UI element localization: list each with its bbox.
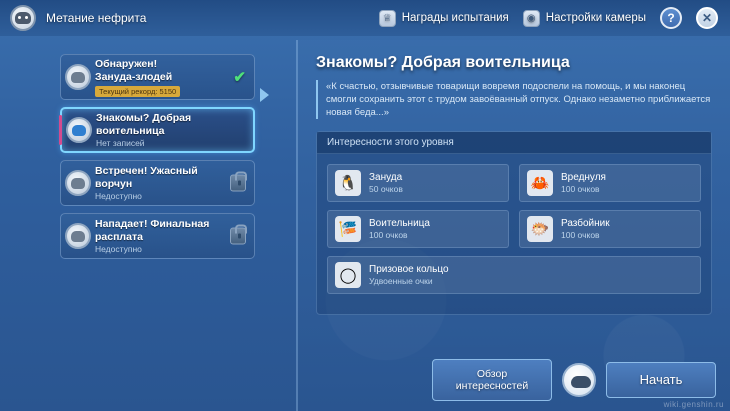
objective-ring-points: Удвоенные очки (369, 276, 449, 287)
objective-ring-name: Призовое кольцо (369, 263, 449, 276)
objective-voitelnitsa: 🎏 Воительница 100 очков (327, 210, 509, 248)
level-item-4-text: Нападает! Финальная расплата Недоступно (95, 218, 209, 254)
level-item-4-name2: расплата (95, 231, 209, 243)
camera-settings-button[interactable]: ◉ Настройки камеры (523, 10, 646, 27)
level-item-2-name2: воительница (96, 125, 191, 137)
challenge-rewards-label: Награды испытания (402, 12, 509, 24)
objective-zanuda-points: 50 очков (369, 184, 403, 195)
objective-ring: ◯ Призовое кольцо Удвоенные очки (327, 256, 701, 294)
level-item-2-text: Знакомы? Добрая воительница Нет записей (96, 112, 191, 148)
level-medal-icon (65, 64, 91, 90)
level-item-3-text: Встречен! Ужасный ворчун Недоступно (95, 165, 198, 201)
lock-icon (230, 228, 246, 245)
objective-vrednulya-points: 100 очков (561, 184, 606, 195)
objective-vrednulya-name: Вреднуля (561, 171, 606, 184)
level-item-1-name2: Зануда-злодей (95, 71, 180, 83)
watermark: wiki.genshin.ru (664, 400, 724, 409)
level-item-1[interactable]: Обнаружен! Зануда-злодей Текущий рекорд:… (60, 54, 255, 100)
level-detail-panel: Знакомы? Добрая воительница «К счастью, … (296, 40, 730, 411)
ring-icon: ◯ (335, 262, 361, 288)
camera-icon: ◉ (523, 10, 540, 27)
objective-zanuda: 🐧 Зануда 50 очков (327, 164, 509, 202)
level-item-3-name: Встречен! Ужасный (95, 165, 198, 177)
level-list: Обнаружен! Зануда-злодей Текущий рекорд:… (60, 54, 255, 259)
top-bar-actions: ♕ Награды испытания ◉ Настройки камеры ?… (379, 7, 730, 29)
help-button[interactable]: ? (660, 7, 682, 29)
level-item-1-text: Обнаружен! Зануда-злодей Текущий рекорд:… (95, 58, 180, 97)
objective-voitelnitsa-name: Воительница (369, 217, 430, 230)
objectives-section-title: Интересности этого уровня (317, 132, 711, 154)
overview-button-line2: интересностей (447, 380, 537, 392)
vrednulya-icon: 🦀 (527, 170, 553, 196)
objective-voitelnitsa-points: 100 очков (369, 230, 430, 241)
selection-arrow-icon (260, 88, 269, 102)
level-item-3-name2: ворчун (95, 178, 198, 190)
objective-zanuda-name: Зануда (369, 171, 403, 184)
level-item-4-sub: Недоступно (95, 244, 209, 254)
level-item-3-sub: Недоступно (95, 191, 198, 201)
razboynik-icon: 🐡 (527, 216, 553, 242)
top-bar: Метание нефрита ♕ Награды испытания ◉ На… (0, 0, 730, 36)
objective-razboynik-points: 100 очков (561, 230, 610, 241)
objectives-section: Интересности этого уровня 🐧 Зануда 50 оч… (316, 131, 712, 315)
level-item-3[interactable]: Встречен! Ужасный ворчун Недоступно (60, 160, 255, 206)
objectives-grid: 🐧 Зануда 50 очков 🦀 Вреднуля 100 очков 🎏… (317, 154, 711, 304)
footer-actions: Обзор интересностей Начать (432, 359, 716, 401)
page-title: Метание нефрита (46, 11, 146, 25)
trophy-icon: ♕ (379, 10, 396, 27)
objective-razboynik: 🐡 Разбойник 100 очков (519, 210, 701, 248)
level-item-1-record: Текущий рекорд: 5150 (95, 86, 180, 97)
voitelnitsa-icon: 🎏 (335, 216, 361, 242)
level-item-2-name: Знакомы? Добрая (96, 112, 191, 124)
level-item-4-name: Нападает! Финальная (95, 218, 209, 230)
paimon-avatar (562, 363, 596, 397)
level-medal-icon (66, 117, 92, 143)
overview-button-line1: Обзор (447, 368, 537, 380)
check-icon: ✔ (233, 68, 246, 86)
level-medal-icon (65, 170, 91, 196)
zanuda-icon: 🐧 (335, 170, 361, 196)
level-item-2-sub: Нет записей (96, 138, 191, 148)
overview-button[interactable]: Обзор интересностей (432, 359, 552, 401)
objective-razboynik-name: Разбойник (561, 217, 610, 230)
paimon-face (15, 12, 31, 24)
start-button[interactable]: Начать (606, 362, 716, 398)
level-item-1-name: Обнаружен! (95, 58, 180, 70)
close-button[interactable]: ✕ (696, 7, 718, 29)
lock-icon (230, 175, 246, 192)
detail-title: Знакомы? Добрая воительница (316, 54, 712, 72)
detail-description: «К счастью, отзывчивые товарищи вовремя … (316, 80, 712, 119)
camera-settings-label: Настройки камеры (546, 12, 646, 24)
level-item-4[interactable]: Нападает! Финальная расплата Недоступно (60, 213, 255, 259)
level-item-2[interactable]: Знакомы? Добрая воительница Нет записей (60, 107, 255, 153)
challenge-rewards-button[interactable]: ♕ Награды испытания (379, 10, 509, 27)
level-medal-icon (65, 223, 91, 249)
objective-vrednulya: 🦀 Вреднуля 100 очков (519, 164, 701, 202)
paimon-back-icon[interactable] (10, 5, 36, 31)
